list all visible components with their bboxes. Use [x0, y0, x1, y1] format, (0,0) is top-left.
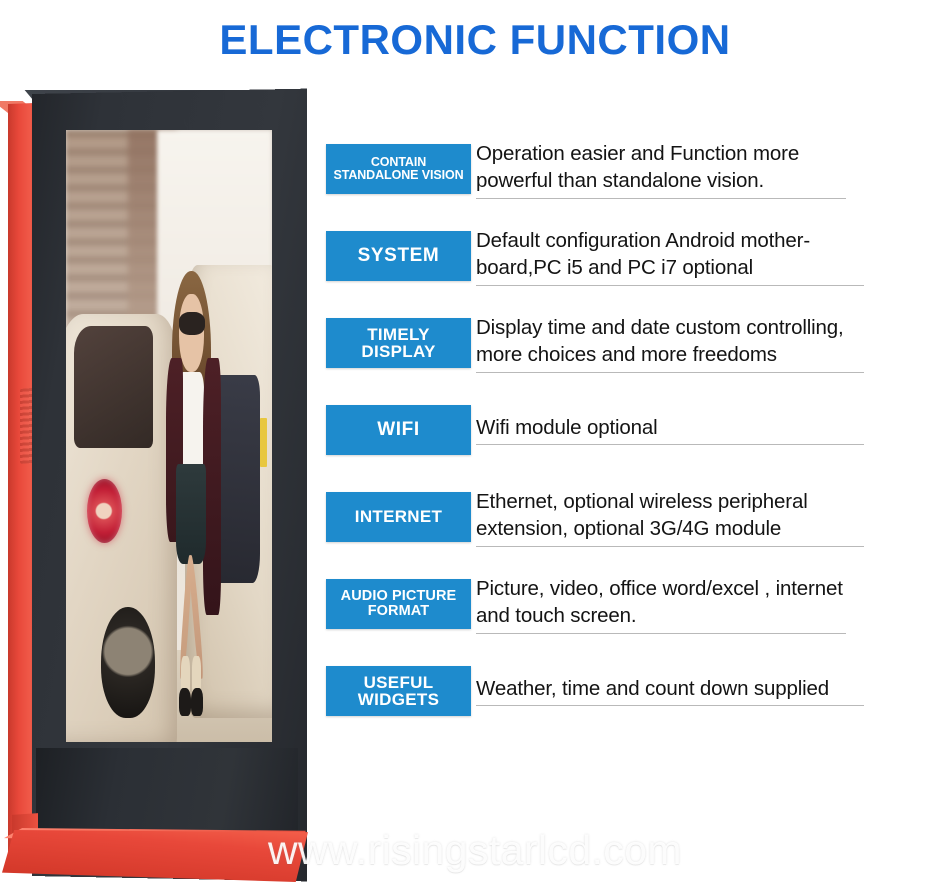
feature-description-internet: Ethernet, optional wireless peripheral e…	[476, 488, 864, 547]
badge-label-line2: WIDGETS	[358, 690, 439, 709]
scene-model-figure	[161, 271, 223, 730]
feature-description-system: Default configuration Android mother-boa…	[476, 227, 864, 286]
badge-label-line2: DISPLAY	[361, 342, 435, 361]
feature-row-contain-standalone-vision: CONTAIN STANDALONE VISION Operation easi…	[326, 144, 846, 231]
scene-car-taillight	[87, 479, 122, 543]
kiosk-display-screen	[66, 130, 272, 742]
feature-badge-timely-display: TIMELY DISPLAY	[326, 318, 471, 368]
feature-badge-audio-picture-format: AUDIO PICTURE FORMAT	[326, 579, 471, 629]
infographic-page: ELECTRONIC FUNCTION	[0, 0, 950, 888]
scene-car-window	[74, 326, 152, 448]
page-title: ELECTRONIC FUNCTION	[0, 16, 950, 64]
feature-description-contain-standalone-vision: Operation easier and Function more power…	[476, 140, 846, 199]
feature-description-audio-picture-format: Picture, video, office word/excel , inte…	[476, 575, 846, 634]
model-skirt	[176, 464, 207, 565]
model-shoe-left	[179, 688, 191, 716]
scene-car-door-sticker	[260, 418, 267, 467]
screen-scene	[66, 130, 272, 742]
model-shoe-right	[191, 688, 203, 716]
feature-badge-wifi: WIFI	[326, 405, 471, 455]
feature-row-timely-display: TIMELY DISPLAY Display time and date cus…	[326, 318, 846, 405]
model-sunglasses	[179, 312, 205, 335]
feature-row-useful-widgets: USEFUL WIDGETS Weather, time and count d…	[326, 666, 846, 753]
feature-badge-contain-standalone-vision: CONTAIN STANDALONE VISION	[326, 144, 471, 194]
feature-badge-useful-widgets: USEFUL WIDGETS	[326, 666, 471, 716]
badge-label-line1: USEFUL	[364, 673, 434, 692]
feature-description-wifi: Wifi module optional	[476, 414, 864, 445]
feature-row-audio-picture-format: AUDIO PICTURE FORMAT Picture, video, off…	[326, 579, 846, 666]
feature-description-timely-display: Display time and date custom controlling…	[476, 314, 864, 373]
feature-list: CONTAIN STANDALONE VISION Operation easi…	[326, 144, 846, 753]
badge-label-line1: INTERNET	[355, 508, 442, 525]
badge-label-line1: SYSTEM	[358, 246, 440, 265]
badge-label-line1: AUDIO PICTURE	[341, 588, 457, 604]
badge-label-line2: FORMAT	[368, 603, 430, 619]
feature-badge-internet: INTERNET	[326, 492, 471, 542]
scene-car-wheel	[101, 607, 155, 717]
badge-label-line1: TIMELY	[367, 325, 430, 344]
badge-label-line2: STANDALONE VISION	[333, 168, 463, 182]
badge-label-line1: WIFI	[377, 420, 420, 439]
product-kiosk-image	[0, 88, 310, 878]
feature-description-useful-widgets: Weather, time and count down supplied	[476, 675, 864, 706]
feature-row-wifi: WIFI Wifi module optional	[326, 405, 846, 492]
feature-badge-system: SYSTEM	[326, 231, 471, 281]
feature-row-internet: INTERNET Ethernet, optional wireless per…	[326, 492, 846, 579]
feature-row-system: SYSTEM Default configuration Android mot…	[326, 231, 846, 318]
model-white-top	[179, 372, 204, 473]
